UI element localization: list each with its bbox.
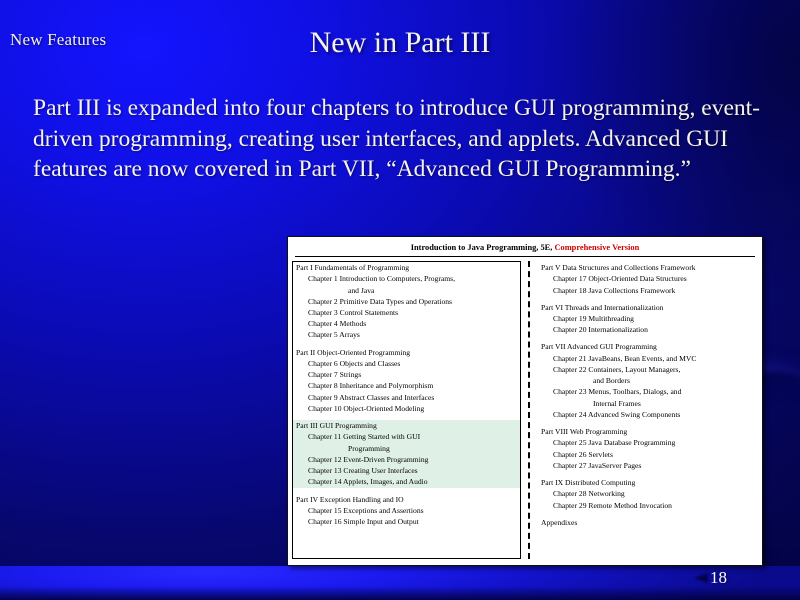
toc-chapter-entry: Chapter 25 Java Database Programming xyxy=(541,437,756,448)
toc-part-title: Part V Data Structures and Collections F… xyxy=(541,262,756,273)
book-table-of-contents-card: Introduction to Java Programming, 5E, Co… xyxy=(287,236,763,566)
toc-part-right: Part VI Threads and Internationalization… xyxy=(538,302,756,336)
toc-part-right: Part VIII Web ProgrammingChapter 25 Java… xyxy=(538,426,756,471)
slide-page-number: 18 xyxy=(710,568,727,588)
toc-column-divider xyxy=(528,261,530,559)
toc-chapter-entry: Chapter 12 Event-Driven Programming xyxy=(296,454,520,465)
toc-chapter-entry: Chapter 14 Applets, Images, and Audio xyxy=(296,476,520,487)
toc-part-title: Part VI Threads and Internationalization xyxy=(541,302,756,313)
toc-part-right: Appendixes xyxy=(538,517,756,528)
toc-part-right: Part V Data Structures and Collections F… xyxy=(538,262,756,296)
toc-chapter-entry: Chapter 16 Simple Input and Output xyxy=(296,516,520,527)
toc-part-title: Part II Object-Oriented Programming xyxy=(296,347,520,358)
toc-chapter-entry: Chapter 17 Object-Oriented Data Structur… xyxy=(541,273,756,284)
toc-chapter-entry: Chapter 15 Exceptions and Assertions xyxy=(296,505,520,516)
toc-chapter-entry: Chapter 24 Advanced Swing Components xyxy=(541,409,756,420)
toc-chapter-entry: Chapter 10 Object-Oriented Modeling xyxy=(296,403,520,414)
toc-chapter-entry: Internal Frames xyxy=(541,398,756,409)
toc-chapter-entry: Chapter 1 Introduction to Computers, Pro… xyxy=(296,273,520,284)
toc-header-title: Introduction to Java Programming, 5E, xyxy=(411,243,553,252)
toc-chapter-entry: Chapter 18 Java Collections Framework xyxy=(541,285,756,296)
toc-chapter-entry: Chapter 22 Containers, Layout Managers, xyxy=(541,364,756,375)
toc-part-left: Part IV Exception Handling and IOChapter… xyxy=(293,494,520,528)
toc-chapter-entry: Chapter 29 Remote Method Invocation xyxy=(541,500,756,511)
toc-chapter-entry: Chapter 5 Arrays xyxy=(296,329,520,340)
toc-part-left: Part II Object-Oriented ProgrammingChapt… xyxy=(293,347,520,414)
toc-chapter-entry: Chapter 23 Menus, Toolbars, Dialogs, and xyxy=(541,386,756,397)
bottom-band-decoration xyxy=(0,566,800,600)
toc-chapter-entry: and Java xyxy=(296,285,520,296)
toc-chapter-entry: Chapter 13 Creating User Interfaces xyxy=(296,465,520,476)
toc-header: Introduction to Java Programming, 5E, Co… xyxy=(295,237,755,257)
toc-part-title: Part VII Advanced GUI Programming xyxy=(541,341,756,352)
toc-chapter-entry: Chapter 11 Getting Started with GUI xyxy=(296,431,520,442)
toc-chapter-entry: Chapter 19 Multithreading xyxy=(541,313,756,324)
arrow-marker-icon xyxy=(694,573,708,583)
toc-chapter-entry: Chapter 21 JavaBeans, Bean Events, and M… xyxy=(541,353,756,364)
toc-part-title: Part I Fundamentals of Programming xyxy=(296,262,520,273)
toc-chapter-entry: Chapter 27 JavaServer Pages xyxy=(541,460,756,471)
toc-chapter-entry: Chapter 4 Methods xyxy=(296,318,520,329)
toc-chapter-entry: Chapter 7 Strings xyxy=(296,369,520,380)
toc-part-title: Part IV Exception Handling and IO xyxy=(296,494,520,505)
toc-chapter-entry: Chapter 3 Control Statements xyxy=(296,307,520,318)
toc-chapter-entry: Chapter 9 Abstract Classes and Interface… xyxy=(296,392,520,403)
toc-chapter-entry: Chapter 20 Internationalization xyxy=(541,324,756,335)
toc-chapter-entry: Chapter 2 Primitive Data Types and Opera… xyxy=(296,296,520,307)
presentation-slide: New Features New in Part III Part III is… xyxy=(0,0,800,600)
toc-part-right: Part VII Advanced GUI ProgrammingChapter… xyxy=(538,341,756,420)
toc-part-left: Part III GUI ProgrammingChapter 11 Getti… xyxy=(293,420,520,487)
toc-part-title: Appendixes xyxy=(541,517,756,528)
toc-chapter-entry: and Borders xyxy=(541,375,756,386)
toc-part-title: Part VIII Web Programming xyxy=(541,426,756,437)
toc-left-column: Part I Fundamentals of ProgrammingChapte… xyxy=(292,261,521,559)
toc-chapter-entry: Chapter 8 Inheritance and Polymorphism xyxy=(296,380,520,391)
toc-chapter-entry: Programming xyxy=(296,443,520,454)
toc-header-edition: Comprehensive Version xyxy=(554,243,639,252)
toc-part-title: Part IX Distributed Computing xyxy=(541,477,756,488)
toc-right-column: Part V Data Structures and Collections F… xyxy=(538,261,756,559)
page-title: New in Part III xyxy=(0,26,800,60)
toc-columns: Part I Fundamentals of ProgrammingChapte… xyxy=(288,257,762,561)
toc-part-right: Part IX Distributed ComputingChapter 28 … xyxy=(538,477,756,511)
slide-body-text: Part III is expanded into four chapters … xyxy=(33,93,785,185)
toc-part-title: Part III GUI Programming xyxy=(296,420,520,431)
toc-part-left: Part I Fundamentals of ProgrammingChapte… xyxy=(293,262,520,341)
toc-chapter-entry: Chapter 28 Networking xyxy=(541,488,756,499)
toc-chapter-entry: Chapter 6 Objects and Classes xyxy=(296,358,520,369)
toc-chapter-entry: Chapter 26 Servlets xyxy=(541,449,756,460)
